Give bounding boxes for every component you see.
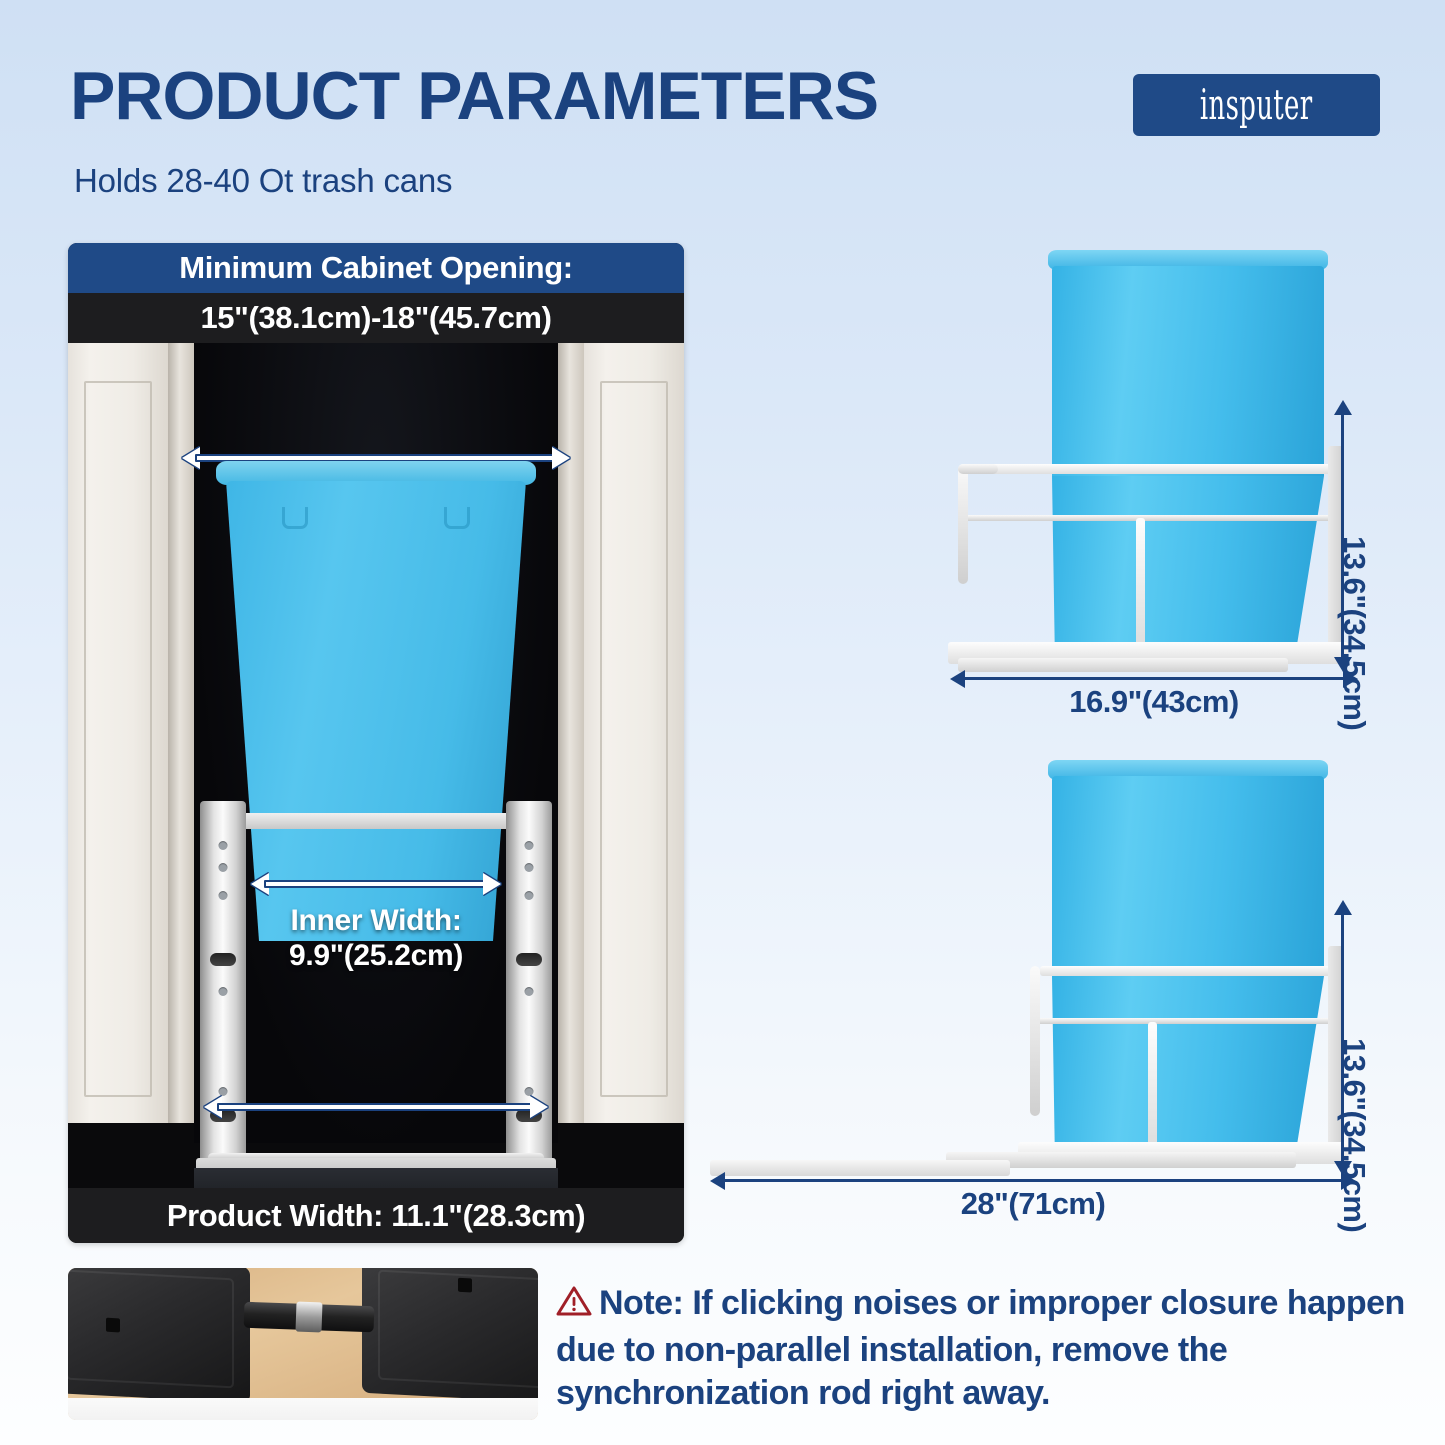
product-render-retracted: 13.6"(34.5cm) 16.9"(43cm)	[930, 250, 1380, 675]
trash-bin	[222, 461, 530, 941]
carrier-frame-bar	[216, 813, 536, 829]
product-width-arrow	[204, 1096, 548, 1118]
cabinet-door-left	[68, 343, 168, 1123]
rail-screw-icon	[525, 987, 534, 996]
rail-screw-icon	[525, 841, 534, 850]
page-title: PRODUCT PARAMETERS	[70, 62, 878, 130]
dimension-line	[724, 1179, 1342, 1182]
minimum-opening-label: Minimum Cabinet Opening:	[179, 250, 572, 286]
render-top-height-dimension: 13.6"(34.5cm)	[1334, 400, 1380, 672]
note-block: Note: If clicking noises or improper clo…	[556, 1282, 1406, 1416]
arrow-head-right-icon	[530, 1096, 548, 1118]
page-subtitle: Holds 28-40 Ot trash cans	[74, 162, 452, 200]
product-width-label: Product Width: 11.1"(28.3cm)	[167, 1198, 585, 1234]
bracket-hole-icon	[458, 1278, 472, 1293]
product-width-banner: Product Width: 11.1"(28.3cm)	[68, 1188, 684, 1243]
render-bottom-width-value: 28"(71cm)	[710, 1186, 1356, 1222]
brand-logo: insputer	[1133, 74, 1380, 136]
bracket-right	[362, 1268, 538, 1403]
arrow-head-up-icon	[1334, 400, 1352, 415]
render-bin-lower	[1052, 476, 1324, 646]
synchronization-rod-photo	[68, 1268, 538, 1420]
render-top-rail	[1040, 966, 1336, 976]
render-bin-upper	[1052, 776, 1324, 976]
render-wire-elbow	[958, 464, 998, 474]
dimension-line	[964, 677, 1344, 680]
product-render-extended: 13.6"(34.5cm) 28"(71cm)	[700, 760, 1380, 1180]
rod-collar	[295, 1302, 322, 1333]
bin-clip-right-icon	[444, 507, 470, 529]
inner-width-caption: Inner Width:	[68, 903, 684, 938]
rail-screw-icon	[525, 891, 534, 900]
inner-width-arrow	[251, 873, 501, 895]
rail-screw-icon	[219, 863, 228, 872]
cabinet-scene: Inner Width: 9.9"(25.2cm)	[68, 343, 684, 1188]
rail-screw-icon	[525, 1087, 534, 1096]
render-wire-bar	[1032, 1018, 1336, 1024]
render-bin-upper	[1052, 266, 1324, 476]
arrow-line	[264, 880, 488, 888]
arrow-head-up-icon	[1334, 900, 1352, 915]
bracket-left	[68, 1268, 250, 1403]
photo-bottom-edge	[68, 1398, 538, 1420]
trash-bin-body	[226, 481, 526, 941]
page-header: PRODUCT PARAMETERS Holds 28-40 Ot trash …	[70, 62, 1380, 212]
rail-screw-icon	[219, 891, 228, 900]
cabinet-photo-panel: Minimum Cabinet Opening: 15"(38.1cm)-18"…	[68, 243, 684, 1243]
minimum-opening-banner: Minimum Cabinet Opening:	[68, 243, 684, 293]
warning-triangle-icon	[556, 1285, 592, 1329]
rail-screw-icon	[219, 841, 228, 850]
render-top-rail	[974, 464, 1334, 474]
render-bottom-height-dimension: 13.6"(34.5cm)	[1334, 900, 1380, 1176]
rail-screw-icon	[219, 1087, 228, 1096]
note-text-wrapper: Note: If clicking noises or improper clo…	[556, 1282, 1406, 1416]
render-top-width-dimension: 16.9"(43cm)	[950, 670, 1358, 716]
bracket-hole-icon	[106, 1318, 120, 1333]
slide-rail-left	[200, 801, 246, 1201]
render-bottom-width-dimension: 28"(71cm)	[710, 1172, 1356, 1218]
inner-width-value: 9.9"(25.2cm)	[68, 938, 684, 973]
brand-logo-text: insputer	[1200, 81, 1313, 129]
cabinet-door-right	[584, 343, 684, 1123]
render-bin-divider	[1136, 518, 1145, 646]
render-wire-bar	[958, 515, 1334, 521]
render-wire-upright	[958, 464, 968, 584]
rail-screw-icon	[525, 863, 534, 872]
inner-width-label-block: Inner Width: 9.9"(25.2cm)	[68, 903, 684, 973]
arrow-head-right-icon	[552, 447, 570, 469]
arrow-line	[217, 1103, 535, 1111]
minimum-opening-value: 15"(38.1cm)-18"(45.7cm)	[200, 300, 551, 336]
slide-rail-right	[506, 801, 552, 1201]
arrow-head-right-icon	[483, 873, 501, 895]
render-top-width-value: 16.9"(43cm)	[950, 684, 1358, 720]
render-bin-lower	[1052, 976, 1324, 1146]
render-bin-divider	[1148, 1022, 1157, 1146]
render-wire-upright	[1030, 966, 1040, 1116]
bin-clip-left-icon	[282, 507, 308, 529]
minimum-opening-value-banner: 15"(38.1cm)-18"(45.7cm)	[68, 293, 684, 343]
rail-screw-icon	[219, 987, 228, 996]
note-text: Note: If clicking noises or improper clo…	[556, 1284, 1405, 1412]
